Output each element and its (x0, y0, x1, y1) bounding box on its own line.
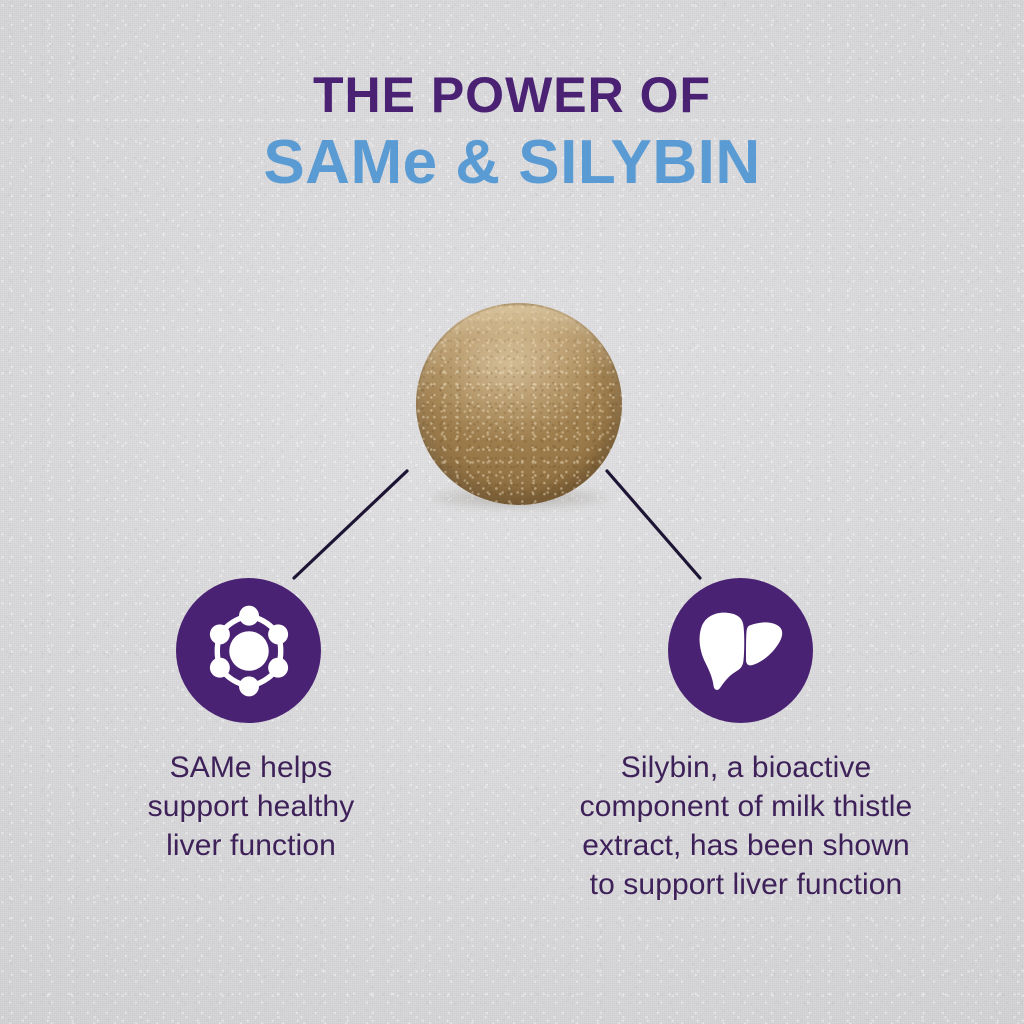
molecule-node-bottom-right (268, 657, 288, 677)
molecule-icon (197, 599, 301, 703)
page-title: THE POWER OF SAMe & SILYBIN (0, 70, 1024, 194)
product-tablet-image (416, 303, 622, 505)
title-line-2: SAMe & SILYBIN (0, 132, 1024, 194)
molecule-node-top (239, 605, 259, 625)
liver-icon (691, 605, 791, 697)
infographic-page: THE POWER OF SAMe & SILYBIN (0, 0, 1024, 1024)
caption-line: liver function (92, 826, 410, 865)
feature-caption-same: SAMe helps support healthy liver functio… (92, 748, 410, 865)
caption-line: support healthy (92, 787, 410, 826)
caption-line: SAMe helps (92, 748, 410, 787)
molecule-nucleus (229, 631, 269, 671)
molecule-node-top-right (268, 624, 288, 644)
feature-icon-badge-same (176, 578, 321, 723)
caption-line: to support liver function (500, 865, 992, 904)
caption-line: extract, has been shown (500, 826, 992, 865)
feature-caption-silybin: Silybin, a bioactive component of milk t… (500, 748, 992, 904)
feature-icon-badge-silybin (668, 578, 813, 723)
caption-line: Silybin, a bioactive (500, 748, 992, 787)
molecule-node-top-left (209, 624, 229, 644)
tablet-body (416, 303, 622, 505)
liver-left-lobe (699, 612, 744, 689)
tablet-bevel-edge (416, 303, 622, 505)
title-line-1: THE POWER OF (0, 70, 1024, 120)
liver-right-lobe (746, 622, 782, 665)
caption-line: component of milk thistle (500, 787, 992, 826)
molecule-node-bottom (239, 676, 259, 696)
molecule-node-bottom-left (209, 657, 229, 677)
